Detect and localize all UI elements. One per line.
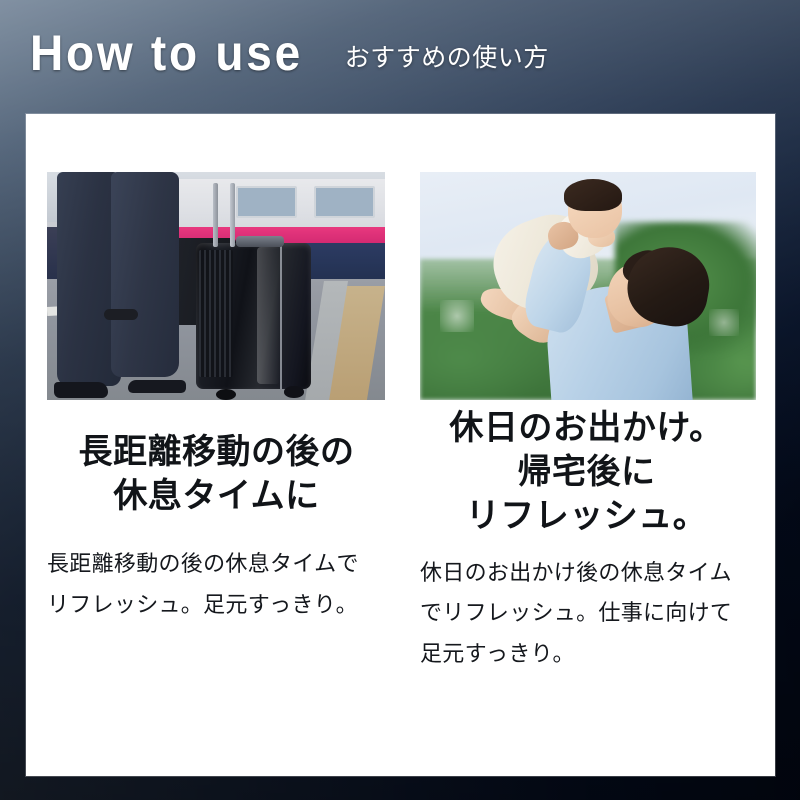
suitcase-wheel [284, 386, 304, 397]
page-header: How to use おすすめの使い方 [30, 28, 770, 90]
bokeh-highlight [440, 300, 474, 332]
traveler-shoe [128, 380, 185, 394]
page-title: How to use [30, 28, 303, 78]
usage-column-travel: 長距離移動の後の 休息タイムに 長距離移動の後の休息タイムでリフレッシュ。足元す… [26, 114, 400, 776]
usage-column-holiday: 休日のお出かけ。 帰宅後に リフレッシュ。 休日のお出かけ後の休息タイムでリフレ… [400, 114, 774, 776]
father-lifting-baby-photo [420, 172, 756, 400]
train-window [314, 186, 375, 218]
background-shoe [104, 309, 138, 320]
suitcase-handle-bar [213, 183, 218, 247]
suitcase-ribs [199, 250, 233, 378]
suitcase-wheel [216, 389, 236, 400]
suitcase-seam [280, 243, 282, 389]
traveler-leg [111, 172, 179, 377]
suitcase-handle-grip [236, 236, 283, 247]
page-subtitle: おすすめの使い方 [345, 46, 549, 71]
promo-banner: How to use おすすめの使い方 [0, 0, 800, 800]
content-panel: 長距離移動の後の 休息タイムに 長距離移動の後の休息タイムでリフレッシュ。足元す… [26, 114, 775, 776]
usage-heading: 休日のお出かけ。 帰宅後に リフレッシュ。 [420, 406, 753, 539]
baby-hair [564, 179, 621, 211]
train-window [236, 186, 297, 218]
usage-columns: 長距離移動の後の 休息タイムに 長距離移動の後の休息タイムでリフレッシュ。足元す… [26, 114, 775, 776]
usage-body: 長距離移動の後の休息タイムでリフレッシュ。足元すっきり。 [47, 544, 386, 626]
suitcase-highlight [257, 247, 281, 384]
bokeh-highlight [709, 309, 739, 336]
usage-body: 休日のお出かけ後の休息タイムでリフレッシュ。仕事に向けて足元すっきり。 [420, 553, 753, 676]
train-platform-suitcase-photo [47, 172, 385, 400]
traveler-shoe [54, 382, 108, 398]
usage-heading: 長距離移動の後の 休息タイムに [47, 430, 386, 518]
suitcase-handle-bar [230, 183, 235, 247]
